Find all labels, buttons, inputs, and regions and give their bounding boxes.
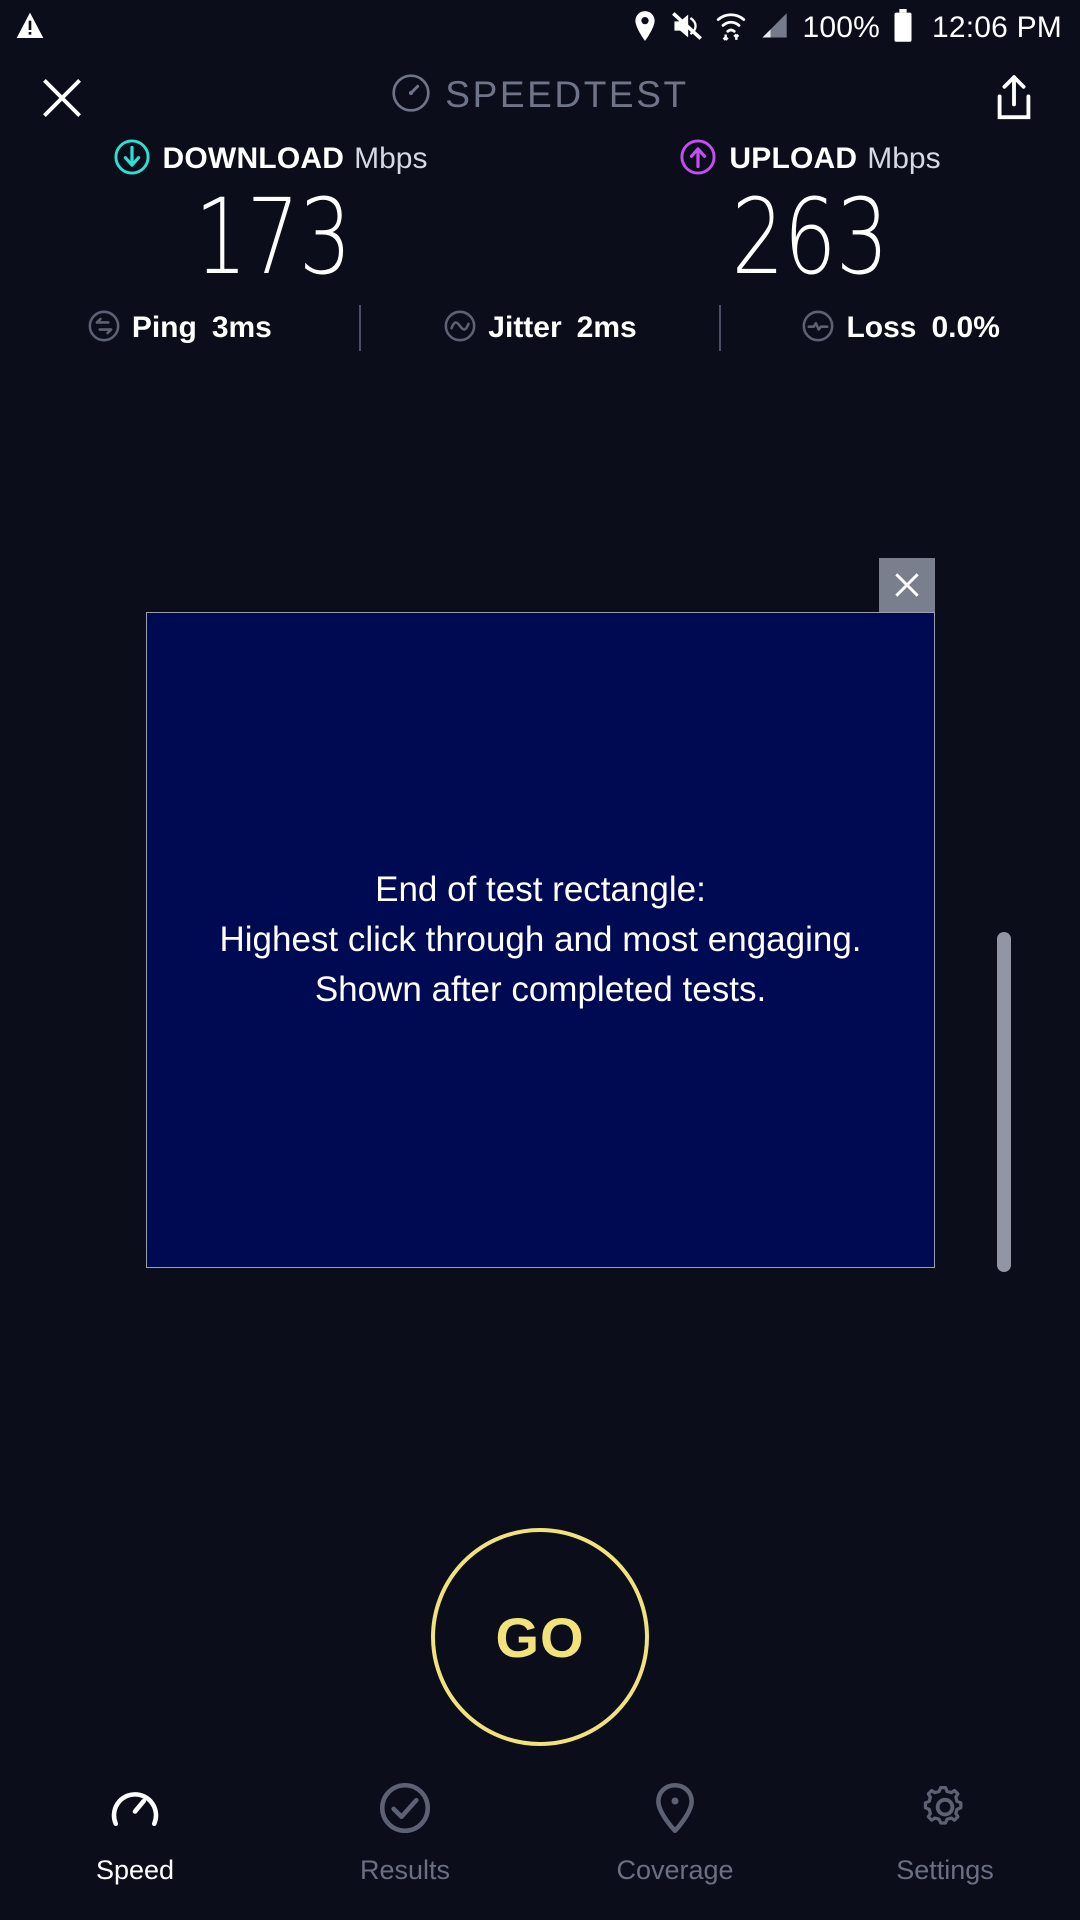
download-arrow-icon: [113, 138, 151, 181]
metrics-strip: Ping 3ms Jitter 2ms Loss 0.0: [0, 297, 1080, 359]
nav-item-settings[interactable]: Settings: [810, 1780, 1080, 1886]
close-icon: [891, 569, 923, 601]
share-button[interactable]: [986, 70, 1042, 126]
speedometer-icon: [107, 1780, 163, 1841]
cellular-signal-icon: [759, 11, 789, 46]
go-button[interactable]: GO: [431, 1528, 649, 1746]
close-icon: [38, 74, 86, 122]
wifi-icon: [716, 10, 746, 47]
speedometer-icon: [391, 73, 431, 118]
upload-value: 263: [732, 184, 888, 290]
jitter-icon: [443, 309, 477, 348]
ad-text: End of test rectangle: Highest click thr…: [205, 865, 875, 1014]
app-title: SPEEDTEST: [445, 74, 688, 116]
nav-label-speed: Speed: [96, 1855, 174, 1886]
ping-icon: [87, 309, 121, 348]
status-bar-right: 100% 12:06 PM: [632, 9, 1062, 48]
gear-icon: [917, 1780, 973, 1841]
results-section: DOWNLOAD Mbps 173 UPLOAD Mbps: [0, 134, 1080, 290]
metric-loss: Loss 0.0%: [721, 309, 1080, 348]
close-button[interactable]: [34, 70, 90, 126]
metric-jitter: Jitter 2ms: [361, 309, 720, 348]
results-row: DOWNLOAD Mbps 173 UPLOAD Mbps: [0, 134, 1080, 290]
upload-unit: Mbps: [867, 142, 940, 176]
brand-logo: SPEEDTEST: [0, 56, 1080, 134]
metric-jitter-value: 2ms: [577, 311, 637, 345]
status-bar: 100% 12:06 PM: [0, 0, 1080, 56]
upload-result: UPLOAD Mbps 263: [540, 134, 1080, 290]
speedtest-app-screen: 100% 12:06 PM SPEEDTEST: [0, 0, 1080, 1920]
metric-ping-value: 3ms: [212, 311, 272, 345]
check-circle-icon: [377, 1780, 433, 1841]
metric-loss-label: Loss: [846, 311, 916, 345]
advertisement: End of test rectangle: Highest click thr…: [146, 612, 935, 1268]
download-value: 173: [195, 184, 351, 290]
download-label: DOWNLOAD: [163, 142, 345, 176]
nav-label-results: Results: [360, 1855, 450, 1886]
location-icon: [632, 10, 658, 47]
nav-item-coverage[interactable]: Coverage: [540, 1780, 810, 1886]
upload-label: UPLOAD: [729, 142, 857, 176]
warning-triangle-icon: [14, 10, 46, 47]
map-pin-icon: [647, 1780, 703, 1841]
ad-banner[interactable]: End of test rectangle: Highest click thr…: [146, 612, 935, 1268]
download-unit: Mbps: [354, 142, 427, 176]
metric-ping: Ping 3ms: [0, 309, 359, 348]
status-bar-left: [14, 10, 46, 47]
loss-icon: [801, 309, 835, 348]
status-bar-clock: 12:06 PM: [932, 11, 1062, 45]
nav-item-speed[interactable]: Speed: [0, 1780, 270, 1886]
scrollbar-thumb[interactable]: [997, 932, 1011, 1272]
metric-jitter-label: Jitter: [488, 311, 561, 345]
bottom-navigation: Speed Results Coverage: [0, 1770, 1080, 1920]
metric-loss-value: 0.0%: [932, 311, 1000, 345]
nav-item-results[interactable]: Results: [270, 1780, 540, 1886]
ad-line-1: End of test rectangle:: [219, 865, 861, 915]
upload-arrow-icon: [679, 138, 717, 181]
share-icon: [992, 74, 1036, 122]
download-result: DOWNLOAD Mbps 173: [0, 134, 540, 290]
battery-icon: [893, 9, 913, 48]
go-button-label: GO: [495, 1605, 584, 1670]
battery-percent-label: 100%: [802, 11, 880, 45]
volume-muted-icon: [671, 11, 703, 46]
nav-label-settings: Settings: [896, 1855, 994, 1886]
ad-close-button[interactable]: [879, 558, 935, 612]
app-header: SPEEDTEST: [0, 56, 1080, 134]
ad-line-3: Shown after completed tests.: [219, 965, 861, 1015]
metric-ping-label: Ping: [132, 311, 197, 345]
nav-label-coverage: Coverage: [616, 1855, 733, 1886]
ad-line-2: Highest click through and most engaging.: [219, 915, 861, 965]
